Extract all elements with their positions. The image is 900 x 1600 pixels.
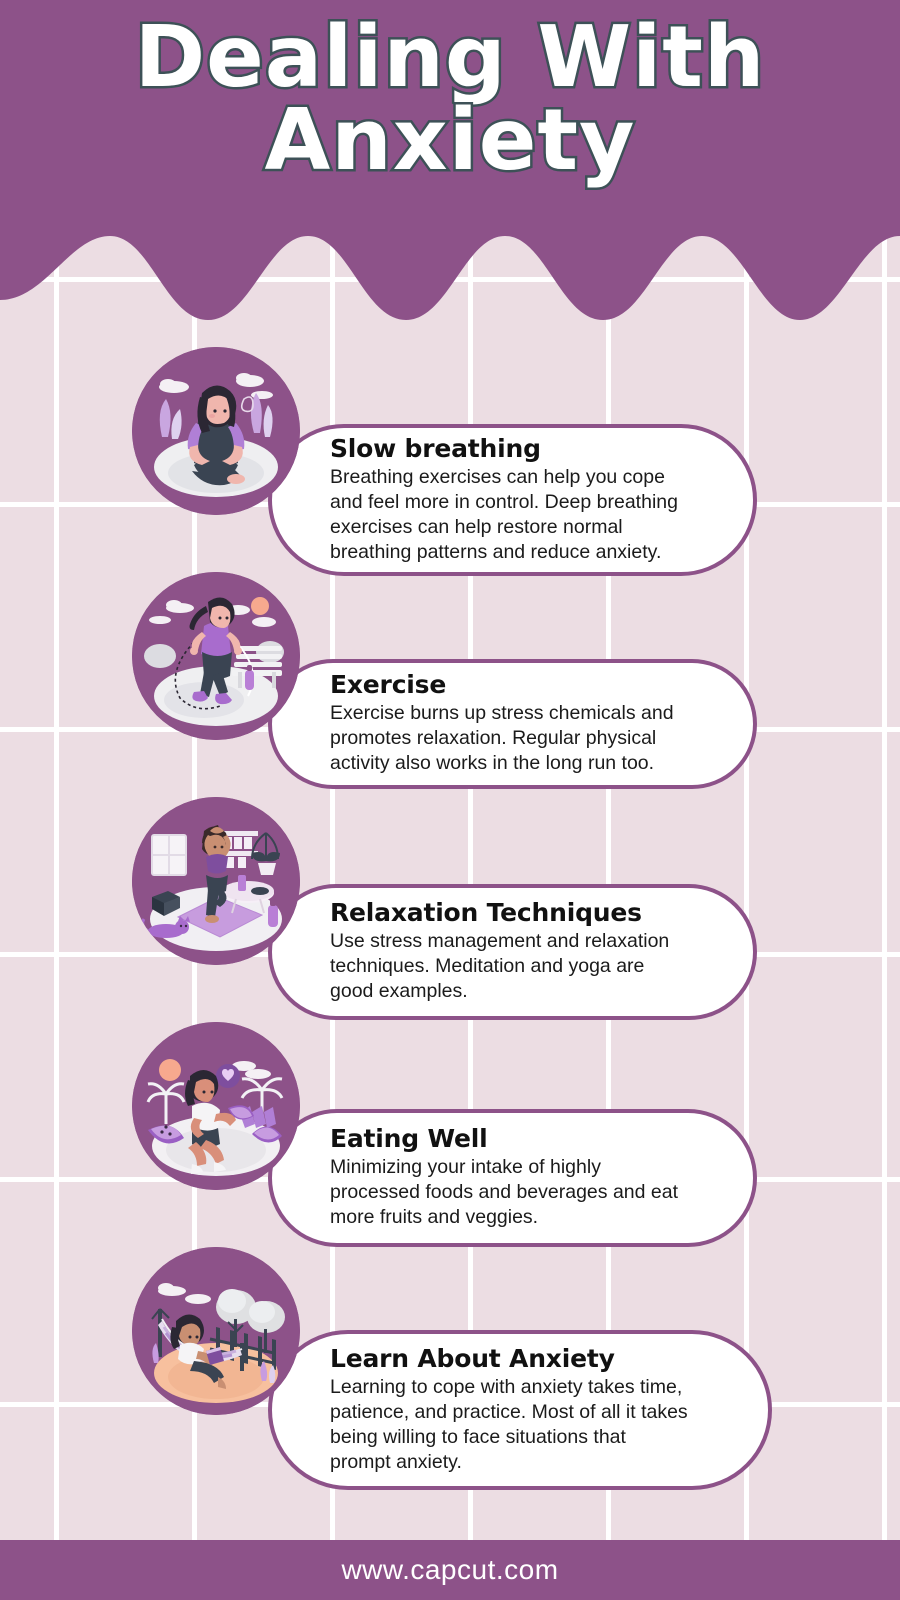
- illustration-yoga-tree-pose: [132, 797, 300, 965]
- card-title: Slow breathing: [330, 434, 717, 463]
- card-body: Breathing exercises can help you cope an…: [330, 465, 717, 565]
- card-body: Exercise burns up stress chemicals and p…: [330, 701, 717, 776]
- card-title: Learn About Anxiety: [330, 1344, 732, 1373]
- illustration-meditating: [132, 347, 300, 515]
- card-relaxation-techniques[interactable]: Relaxation Techniques Use stress managem…: [268, 884, 757, 1020]
- page-title: Dealing With Anxiety: [0, 16, 900, 183]
- header-banner: Dealing With Anxiety: [0, 0, 900, 330]
- card-body: Learning to cope with anxiety takes time…: [330, 1375, 732, 1475]
- card-eating-well[interactable]: Eating Well Minimizing your intake of hi…: [268, 1109, 757, 1247]
- illustration-jumping-rope: [132, 572, 300, 740]
- card-slow-breathing[interactable]: Slow breathing Breathing exercises can h…: [268, 424, 757, 576]
- card-exercise[interactable]: Exercise Exercise burns up stress chemic…: [268, 659, 757, 789]
- card-title: Exercise: [330, 670, 717, 699]
- infographic-poster: Dealing With Anxiety: [0, 0, 900, 1600]
- card-title: Eating Well: [330, 1124, 717, 1153]
- illustration-reading-in-hammock: [132, 1247, 300, 1415]
- card-title: Relaxation Techniques: [330, 898, 717, 927]
- footer-url[interactable]: www.capcut.com: [341, 1554, 558, 1586]
- card-body: Minimizing your intake of highly process…: [330, 1155, 717, 1230]
- card-learn-about-anxiety[interactable]: Learn About Anxiety Learning to cope wit…: [268, 1330, 772, 1490]
- footer-bar: www.capcut.com: [0, 1540, 900, 1600]
- illustration-eating-watermelon: [132, 1022, 300, 1190]
- card-body: Use stress management and relaxation tec…: [330, 929, 717, 1004]
